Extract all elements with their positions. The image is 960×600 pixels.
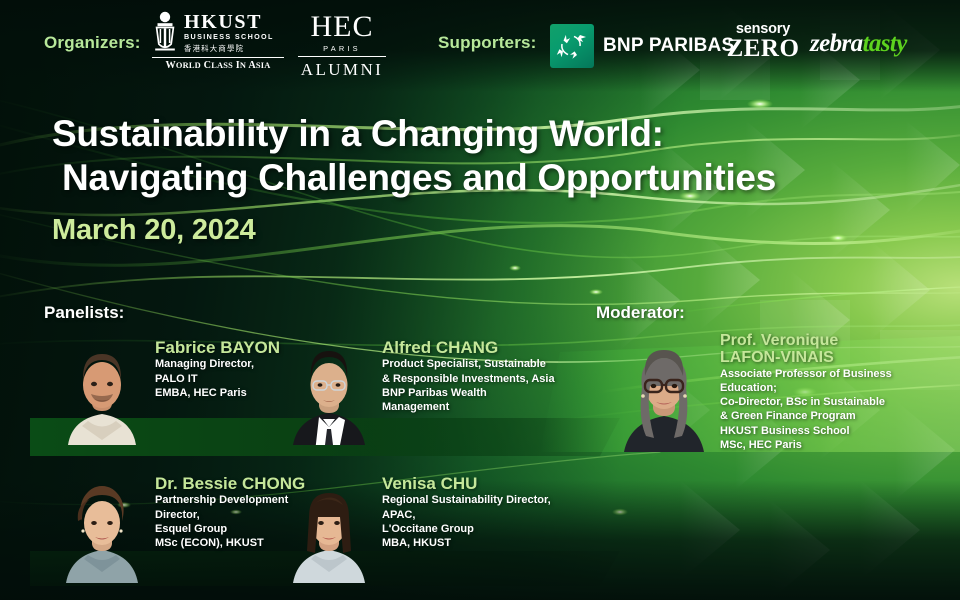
panelist-title-line: Managing Director, — [155, 357, 280, 371]
panelist-name: Dr. Bessie CHONG — [155, 475, 305, 493]
moderator-title-line: HKUST Business School — [720, 424, 892, 438]
panelist-name: Fabrice BAYON — [155, 339, 280, 357]
panelist-card: Alfred CHANG Product Specialist, Sustain… — [285, 337, 555, 445]
panelist-info: Fabrice BAYON Managing Director, PALO IT… — [155, 337, 280, 400]
panelist-info: Venisa CHU Regional Sustainability Direc… — [382, 473, 551, 551]
panelist-title-line: Regional Sustainability Director, — [382, 493, 551, 507]
panelist-card: Fabrice BAYON Managing Director, PALO IT… — [58, 337, 280, 445]
panelist-title-line: APAC, — [382, 508, 551, 522]
panelist-title-line: PALO IT — [155, 372, 280, 386]
panelist-title-line: Director, — [155, 508, 305, 522]
moderator-name-line-1: Prof. Veronique — [720, 332, 892, 349]
moderator-label: Moderator: — [596, 303, 685, 323]
panelist-title-line: MBA, HKUST — [382, 536, 551, 550]
panelist-photo — [58, 473, 146, 583]
moderator-name-line-2: LAFON-VINAIS — [720, 349, 892, 366]
panelist-title-line: MSc (ECON), HKUST — [155, 536, 305, 550]
panelist-photo — [285, 337, 373, 445]
panelist-title-line: Management — [382, 400, 555, 414]
speakers-section: Panelists: Moderator: — [0, 0, 960, 600]
moderator-photo — [618, 330, 710, 452]
moderator-title-line: Associate Professor of Business — [720, 367, 892, 381]
panelist-photo — [58, 337, 146, 445]
panelist-title-line: BNP Paribas Wealth — [382, 386, 555, 400]
panelist-name: Venisa CHU — [382, 475, 551, 493]
panelist-title-line: L'Occitane Group — [382, 522, 551, 536]
moderator-title-line: MSc, HEC Paris — [720, 438, 892, 452]
panelist-title-line: Esquel Group — [155, 522, 305, 536]
panelist-info: Alfred CHANG Product Specialist, Sustain… — [382, 337, 555, 415]
moderator-info: Prof. Veronique LAFON-VINAIS Associate P… — [720, 330, 892, 452]
panelist-info: Dr. Bessie CHONG Partnership Development… — [155, 473, 305, 551]
panelist-card: Dr. Bessie CHONG Partnership Development… — [58, 473, 305, 583]
panelist-title-line: EMBA, HEC Paris — [155, 386, 280, 400]
moderator-title-line: Co-Director, BSc in Sustainable — [720, 395, 892, 409]
moderator-title-line: Education; — [720, 381, 892, 395]
panelist-title-line: Product Specialist, Sustainable — [382, 357, 555, 371]
panelist-title-line: & Responsible Investments, Asia — [382, 372, 555, 386]
panelist-name: Alfred CHANG — [382, 339, 555, 357]
moderator-card: Prof. Veronique LAFON-VINAIS Associate P… — [618, 330, 892, 452]
moderator-title-line: & Green Finance Program — [720, 409, 892, 423]
panelists-label: Panelists: — [44, 303, 124, 323]
event-poster: Organizers: HKUST BUSINESS — [0, 0, 960, 600]
panelist-photo — [285, 473, 373, 583]
panelist-card: Venisa CHU Regional Sustainability Direc… — [285, 473, 551, 583]
panelist-title-line: Partnership Development — [155, 493, 305, 507]
